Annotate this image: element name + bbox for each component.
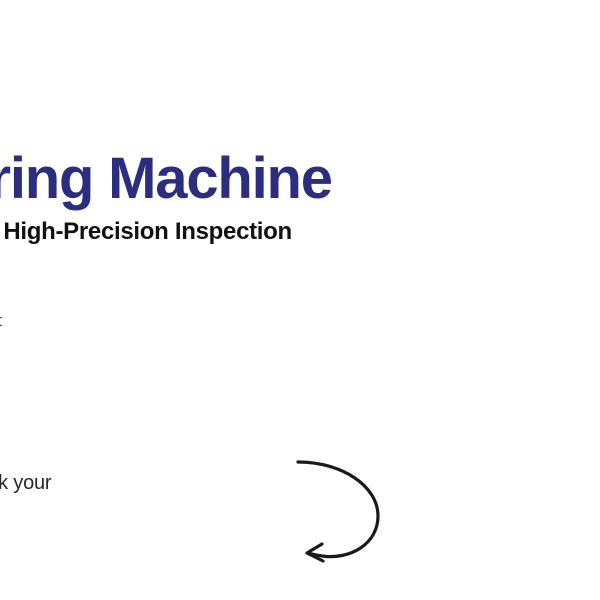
hero-page: Measuring Machine Machine for Fast, High… <box>0 0 600 600</box>
list-item: Optical Technology <box>0 276 600 306</box>
list-item: Smart Data Management <box>0 306 600 336</box>
hero-subtitle-emphasis: Fast, High-Precision Inspection <box>0 218 292 245</box>
list-item: Advanced Algorithms <box>0 246 600 276</box>
cta-text: Send Address to Book your <box>0 468 600 498</box>
page-title: Measuring Machine <box>0 145 600 213</box>
feature-list: Advanced Algorithms Optical Technology S… <box>0 246 600 336</box>
hero-section: Measuring Machine Machine for Fast, High… <box>0 0 600 600</box>
hero-subtitle: Machine for Fast, High-Precision Inspect… <box>0 216 600 248</box>
